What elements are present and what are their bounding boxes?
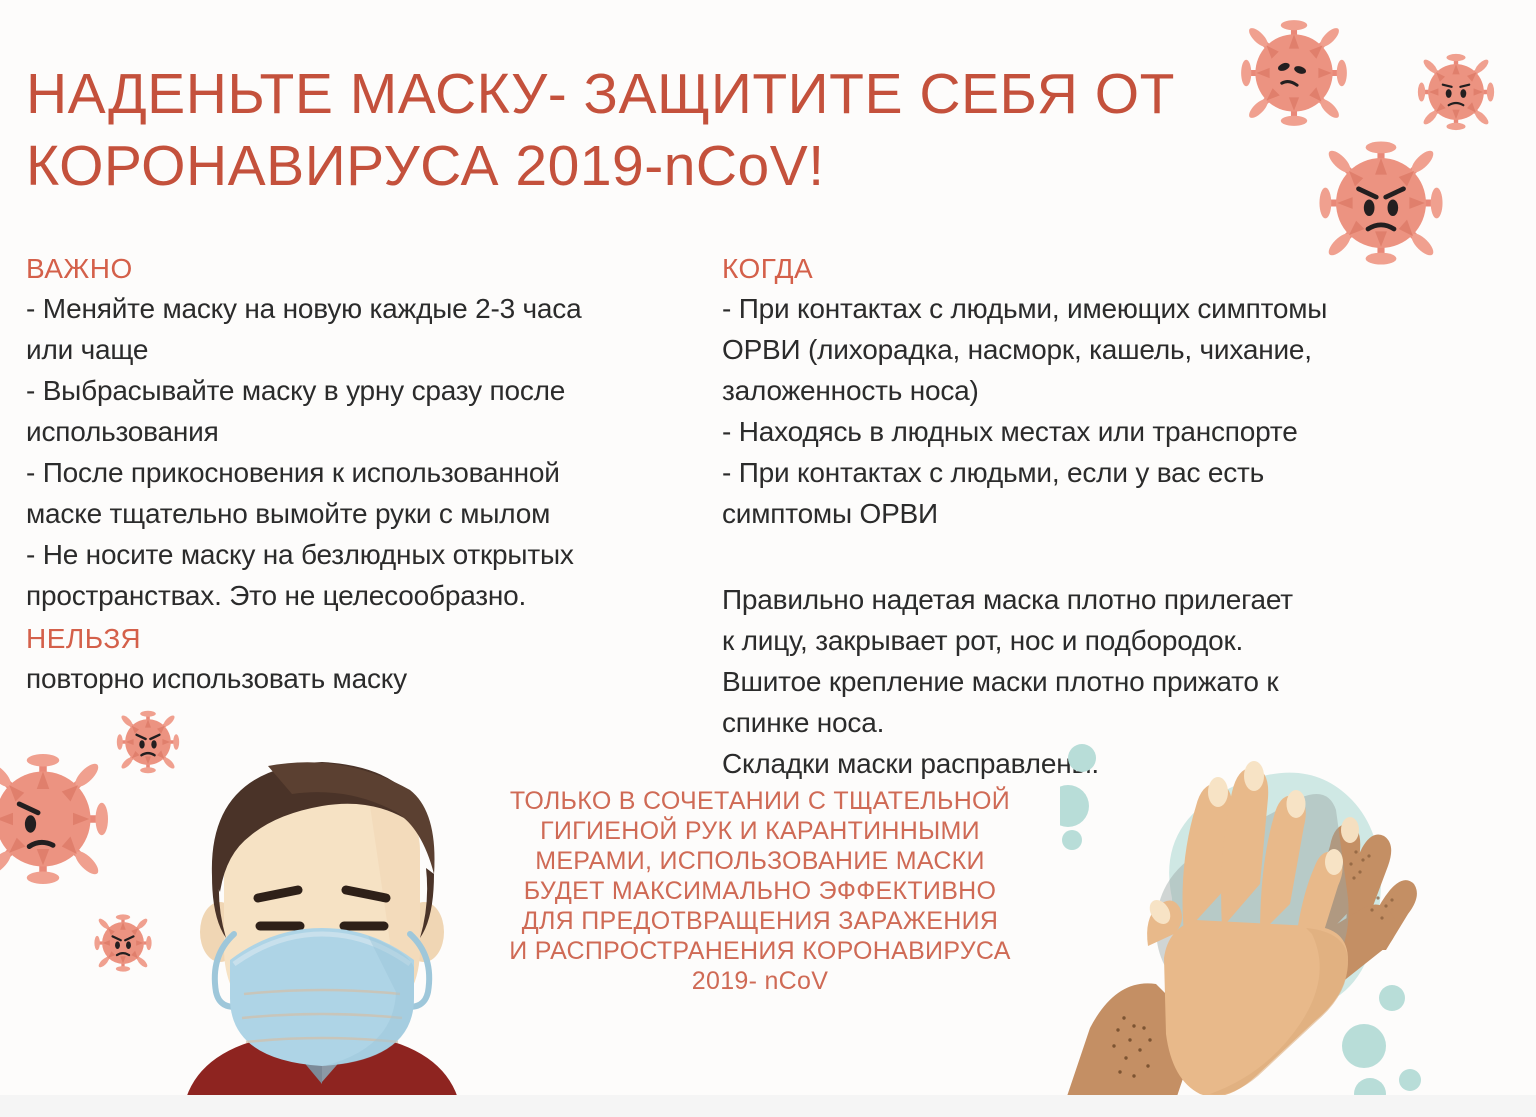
section-body-important: - Меняйте маску на новую каждые 2-3 часа…: [26, 288, 716, 616]
soap-bubble: [1379, 985, 1405, 1011]
virus-icon-bottom-left-3: [90, 910, 156, 976]
soap-bubble: [1399, 1069, 1421, 1091]
virus-icon-bottom-left-1: [0, 744, 118, 894]
bottom-edge-strip: [0, 1095, 1536, 1117]
right-column: КОГДА - При контактах с людьми, имеющих …: [722, 252, 1462, 784]
virus-icon-top-right-2: [1412, 48, 1500, 136]
section-body-when: - При контактах с людьми, имеющих симпто…: [722, 288, 1462, 534]
soap-bubble: [1342, 1024, 1386, 1068]
callout-text: ТОЛЬКО В СОЧЕТАНИИ С ТЩАТЕЛЬНОЙ ГИГИЕНОЙ…: [470, 786, 1050, 996]
soap-bubble: [1068, 744, 1096, 772]
virus-icon-top-right-1: [1233, 12, 1355, 134]
page-title: НАДЕНЬТЕ МАСКУ- ЗАЩИТИТЕ СЕБЯ ОТ КОРОНАВ…: [26, 58, 1226, 202]
soap-bubble: [1062, 830, 1082, 850]
section-heading-forbidden: НЕЛЬЗЯ: [26, 622, 716, 656]
section-heading-when: КОГДА: [722, 252, 1462, 286]
left-column: ВАЖНО - Меняйте маску на новую каждые 2-…: [26, 252, 716, 616]
section-heading-important: ВАЖНО: [26, 252, 716, 286]
soap-bubble: [1060, 785, 1089, 827]
section-body-forbidden: повторно использовать маску: [26, 658, 716, 699]
forbidden-block: НЕЛЬЗЯ повторно использовать маску: [26, 622, 716, 699]
boy-wearing-mask-illustration: [172, 742, 472, 1117]
hand-washing-illustration: [1060, 728, 1536, 1117]
poster-canvas: НАДЕНЬТЕ МАСКУ- ЗАЩИТИТЕ СЕБЯ ОТ КОРОНАВ…: [0, 0, 1536, 1117]
